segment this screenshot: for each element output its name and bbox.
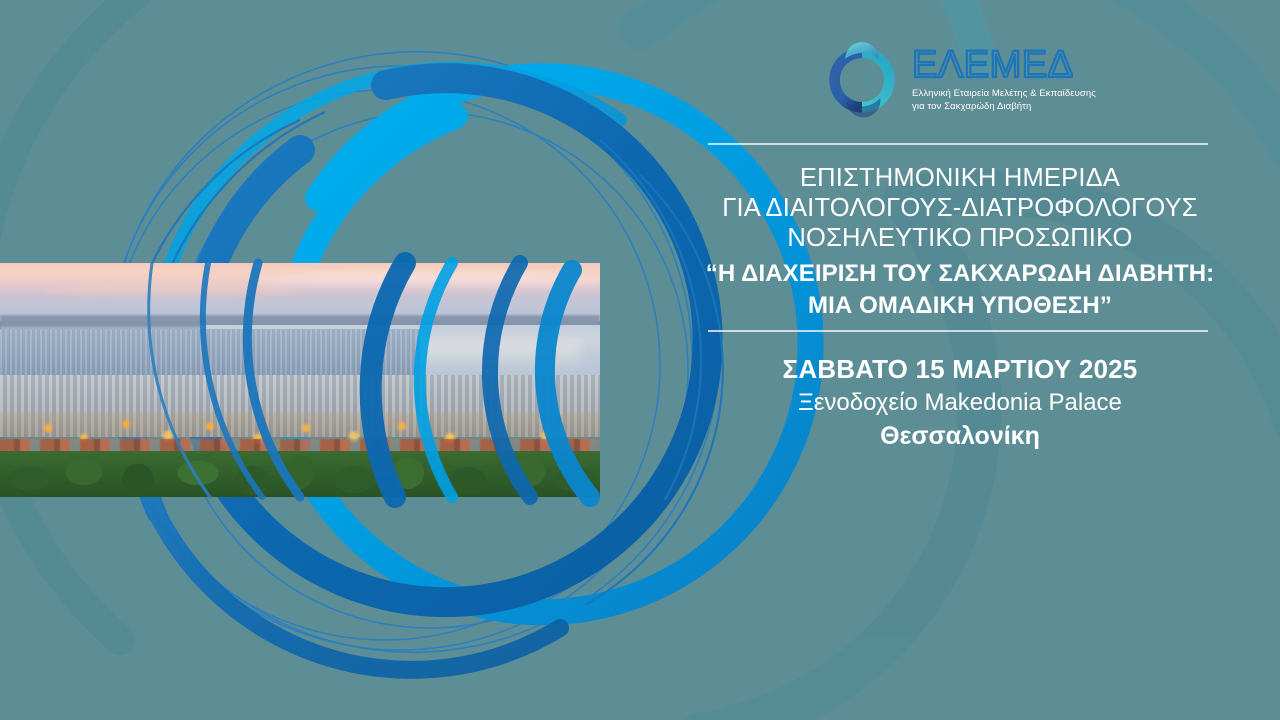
divider-bottom: [708, 330, 1208, 332]
headline-title-line-1: “Η ΔΙΑΧΕΙΡΙΣΗ ΤΟΥ ΣΑΚΧΑΡΩΔΗ ΔΙΑΒΗΤΗ:: [700, 258, 1220, 290]
elemed-wordmark: ΕΛΕΜΕΔ: [912, 47, 1084, 85]
photo-treeline: [0, 451, 600, 497]
event-info-block: ΣΑΒΒΑΤΟ 15 ΜΑΡΤΙΟΥ 2025 Ξενοδοχείο Maked…: [700, 352, 1220, 453]
elemed-logo-subtitle: Ελληνική Εταιρεία Μελέτης & Εκπαίδευσης …: [912, 88, 1096, 112]
event-date: ΣΑΒΒΑΤΟ 15 ΜΑΡΤΙΟΥ 2025: [700, 352, 1220, 386]
elemed-logo: ΕΛΕΜΕΔ Ελληνική Εταιρεία Μελέτης & Εκπαί…: [700, 42, 1220, 118]
photo-cloud: [40, 285, 300, 297]
headline-line-2: ΓΙΑ ΔΙΑΙΤΟΛΟΓΟΥΣ-ΔΙΑΤΡΟΦΟΛΟΓΟΥΣ: [700, 193, 1220, 223]
headline-block: ΕΠΙΣΤΗΜΟΝΙΚΗ ΗΜΕΡΙΔΑ ΓΙΑ ΔΙΑΙΤΟΛΟΓΟΥΣ-ΔΙ…: [700, 163, 1220, 322]
thessaloniki-photo-band: [0, 263, 600, 497]
headline-line-3: ΝΟΣΗΛΕΥΤΙΚΟ ΠΡΟΣΩΠΙΚΟ: [700, 223, 1220, 253]
divider-top: [708, 143, 1208, 145]
elemed-ring-mark-icon: [824, 42, 900, 118]
event-poster: ΕΛΕΜΕΔ Ελληνική Εταιρεία Μελέτης & Εκπαί…: [0, 0, 1280, 720]
headline-title-line-2: ΜΙΑ ΟΜΑΔΙΚΗ ΥΠΟΘΕΣΗ”: [700, 290, 1220, 322]
event-city: Θεσσαλονίκη: [700, 419, 1220, 453]
event-venue: Ξενοδοχείο Makedonia Palace: [700, 386, 1220, 419]
photo-cloud: [250, 273, 600, 291]
elemed-wordmark-text: ΕΛΕΜΕΔ: [912, 47, 1073, 85]
elemed-logo-text: ΕΛΕΜΕΔ Ελληνική Εταιρεία Μελέτης & Εκπαί…: [912, 47, 1096, 112]
headline-line-1: ΕΠΙΣΤΗΜΟΝΙΚΗ ΗΜΕΡΙΔΑ: [700, 163, 1220, 193]
poster-text-column: ΕΛΕΜΕΔ Ελληνική Εταιρεία Μελέτης & Εκπαί…: [700, 0, 1220, 720]
